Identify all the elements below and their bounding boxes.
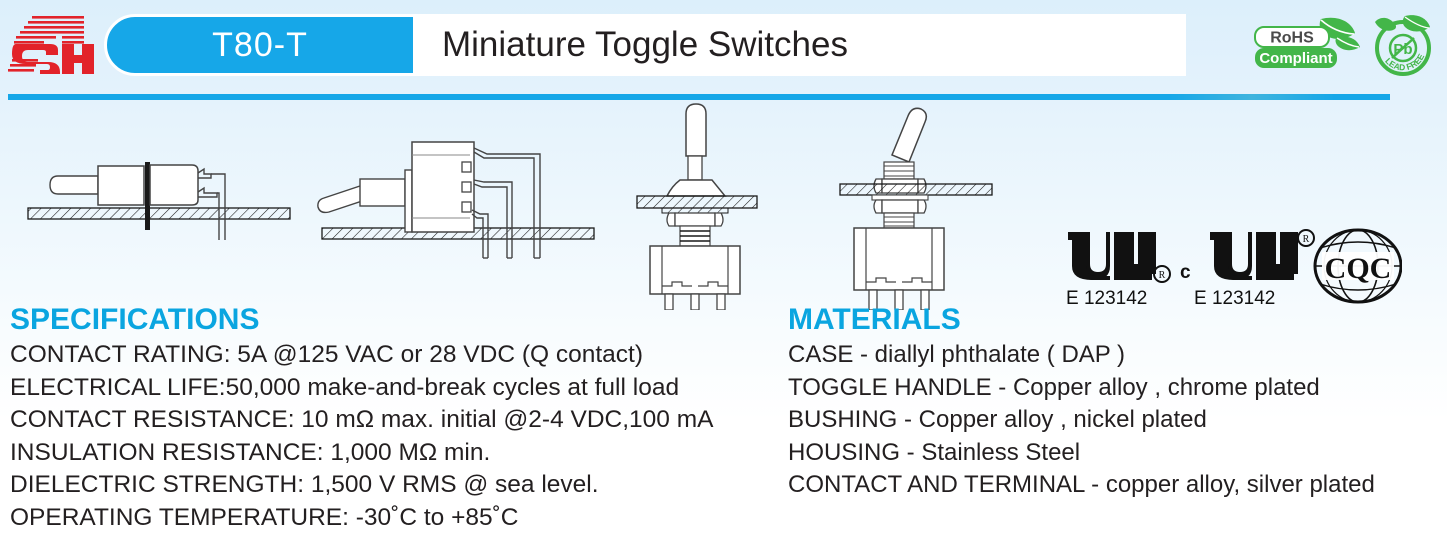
material-line: HOUSING - Stainless Steel <box>788 437 1443 470</box>
horizontal-panel-mount-switch <box>10 140 300 295</box>
vertical-panel-mount-switch <box>832 100 1002 315</box>
materials-heading: MATERIALS <box>788 303 1443 337</box>
datasheet-page: T80-T Miniature Toggle Switches RoHS <box>0 0 1447 539</box>
spec-line: CONTACT RESISTANCE: 10 mΩ max. initial @… <box>10 404 770 437</box>
rohs-compliant-badge: RoHS Compliant <box>1251 13 1363 82</box>
page-header: T80-T Miniature Toggle Switches RoHS <box>0 0 1447 92</box>
spec-line: ELECTRICAL LIFE:50,000 make-and-break cy… <box>10 372 770 405</box>
specifications-section: SPECIFICATIONS CONTACT RATING: 5A @125 V… <box>10 303 770 534</box>
spec-line: DIELECTRIC STRENGTH: 1,500 V RMS @ sea l… <box>10 469 770 502</box>
spec-line: INSULATION RESISTANCE: 1,000 MΩ min. <box>10 437 770 470</box>
cqc-mark: CQC <box>1315 230 1401 302</box>
cqc-label: CQC <box>1325 252 1392 285</box>
material-line: CONTACT AND TERMINAL - copper alloy, sil… <box>788 469 1443 502</box>
model-badge: T80-T <box>104 14 416 76</box>
certification-marks: R E 123142 c R E 123142 <box>1052 222 1402 314</box>
page-title: Miniature Toggle Switches <box>442 25 848 65</box>
material-line: BUSHING - Copper alloy , nickel plated <box>788 404 1443 437</box>
material-line: CASE - diallyl phthalate ( DAP ) <box>788 339 1443 372</box>
vertical-switch-with-boot <box>622 100 802 315</box>
material-line: TOGGLE HANDLE - Copper alloy , chrome pl… <box>788 372 1443 405</box>
model-badge-label: T80-T <box>104 14 416 76</box>
spec-line: CONTACT RATING: 5A @125 VAC or 28 VDC (Q… <box>10 339 770 372</box>
product-drawings <box>0 100 1030 310</box>
svg-text:R: R <box>1303 234 1310 245</box>
specifications-heading: SPECIFICATIONS <box>10 303 770 337</box>
lead-free-badge: Pb LEAD FREE <box>1369 12 1441 83</box>
ul-mark: R E 123142 <box>1066 232 1170 309</box>
cul-mark: c R E 123142 <box>1180 230 1314 309</box>
title-block: Miniature Toggle Switches <box>416 14 1186 76</box>
svg-text:RoHS: RoHS <box>1270 29 1314 46</box>
svg-text:c: c <box>1180 262 1191 283</box>
materials-section: MATERIALS CASE - diallyl phthalate ( DAP… <box>788 303 1443 502</box>
svg-text:Compliant: Compliant <box>1259 50 1332 67</box>
company-logo <box>6 14 96 76</box>
spec-line: OPERATING TEMPERATURE: -30˚C to +85˚C <box>10 502 770 535</box>
right-angle-pcb-mount-switch <box>312 130 597 310</box>
compliance-badges: RoHS Compliant Pb LEAD FREE <box>1251 12 1441 82</box>
svg-text:R: R <box>1159 270 1166 281</box>
